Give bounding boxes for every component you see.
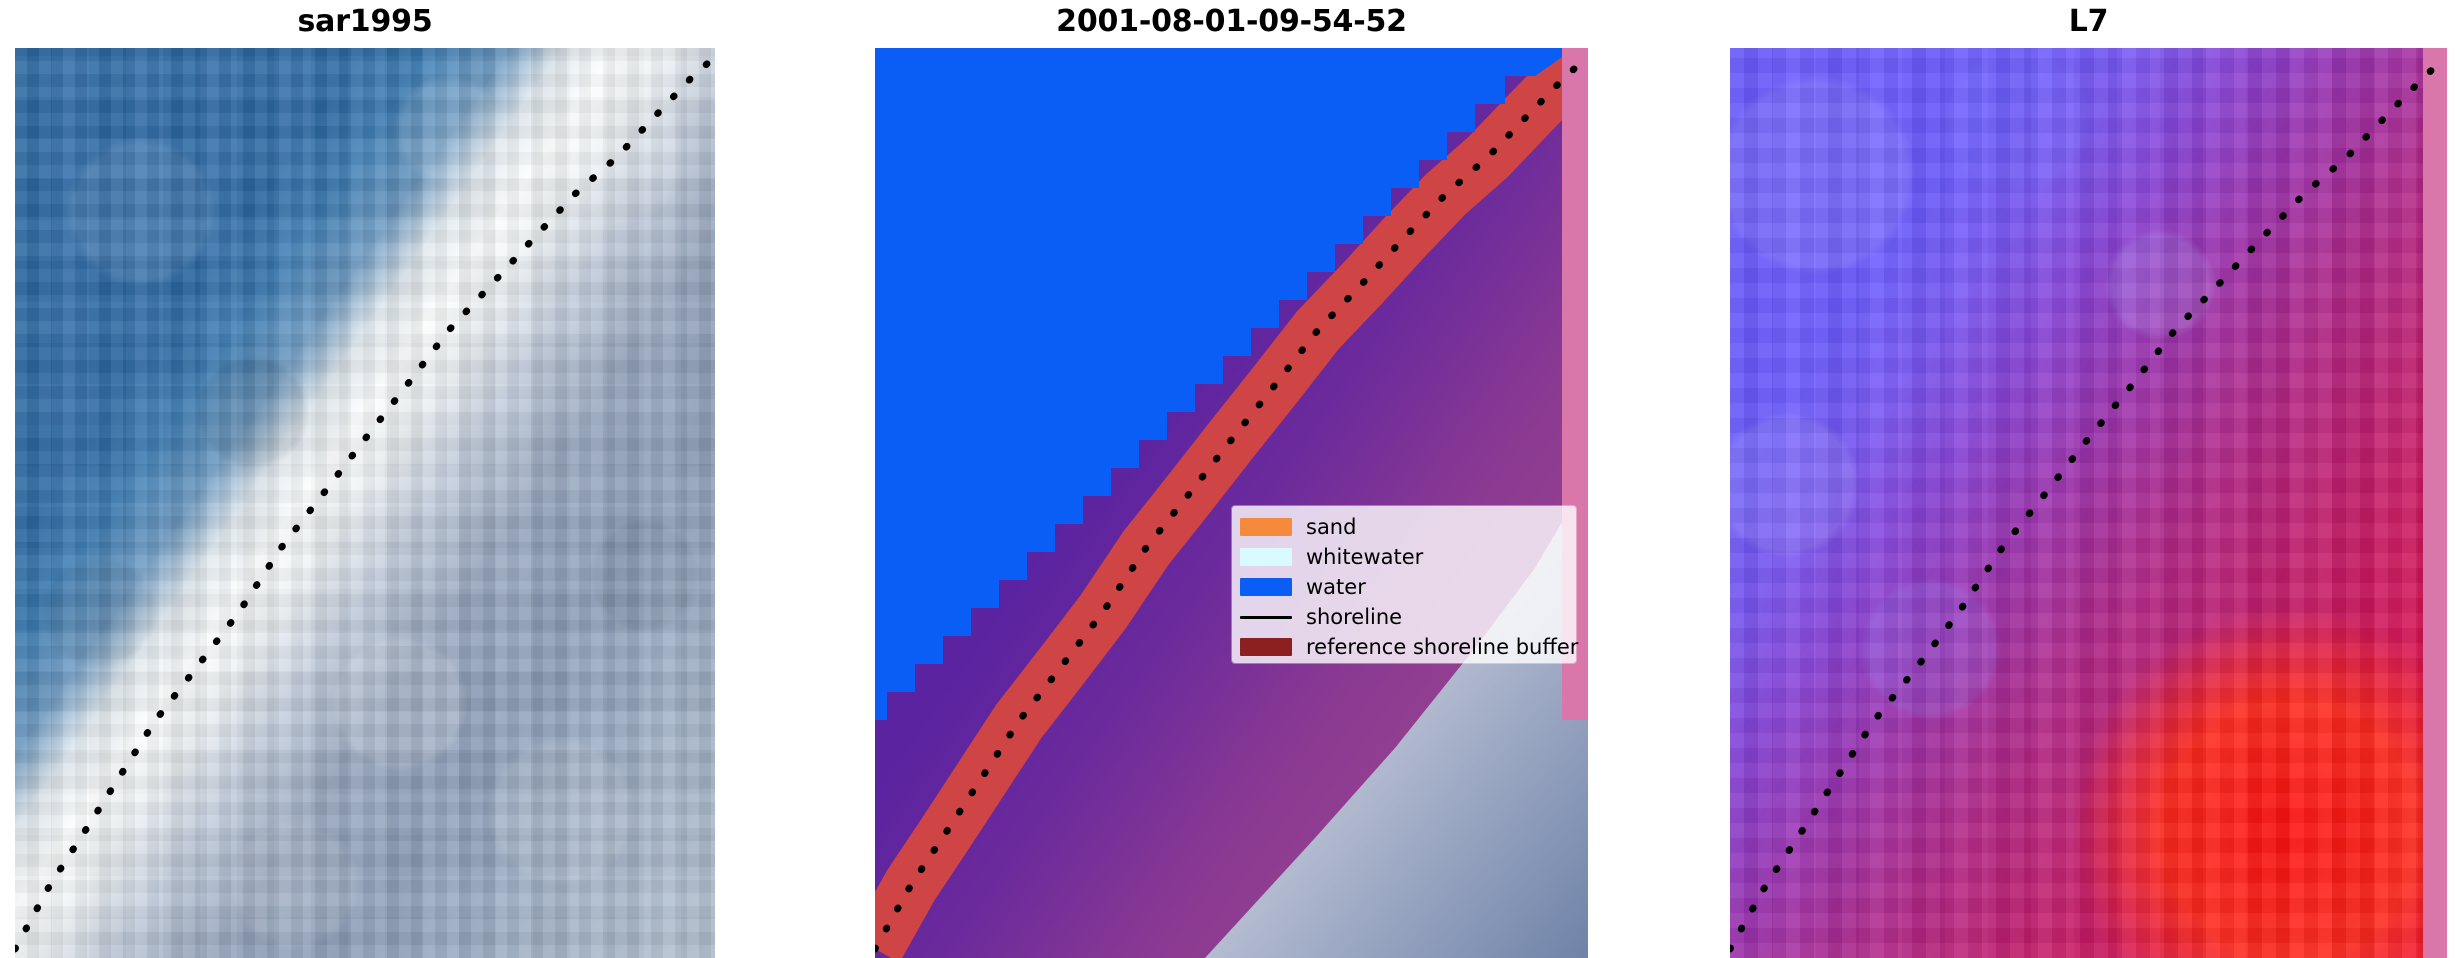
panel-sar1995[interactable] bbox=[15, 48, 715, 958]
panel-title-3: L7 bbox=[1715, 2, 2460, 42]
panel-classified-2001-08-01-09-54-52[interactable] bbox=[875, 48, 1588, 958]
panel-title-2: 2001-08-01-09-54-52 bbox=[860, 2, 1603, 42]
figure-canvas: sar1995 2001-08-01-09-54-52 L7 bbox=[0, 0, 2460, 958]
legend-row-whitewater: whitewater bbox=[1232, 542, 1576, 572]
panel-title-1: sar1995 bbox=[0, 2, 730, 42]
legend-row-water: water bbox=[1232, 572, 1576, 602]
panel-1-image bbox=[15, 48, 715, 958]
legend-swatch-whitewater bbox=[1240, 548, 1292, 566]
l7-grain-layer bbox=[1730, 48, 2447, 958]
legend-box: sand whitewater water shoreline referenc… bbox=[1232, 506, 1576, 663]
panel-l7[interactable] bbox=[1730, 48, 2447, 958]
legend-label-whitewater: whitewater bbox=[1306, 547, 1423, 568]
sar-grain-layer bbox=[15, 48, 715, 958]
legend-label-shoreline: shoreline bbox=[1306, 607, 1402, 628]
legend-swatch-reference-shoreline-buffer bbox=[1240, 638, 1292, 656]
legend-swatch-water bbox=[1240, 578, 1292, 596]
legend-swatch-sand bbox=[1240, 518, 1292, 536]
legend-label-sand: sand bbox=[1306, 517, 1356, 538]
legend-row-reference-shoreline-buffer: reference shoreline buffer bbox=[1232, 632, 1576, 662]
legend-swatch-shoreline bbox=[1240, 616, 1292, 619]
panel-3-right-edge-strip bbox=[2423, 48, 2447, 958]
panel-3-image bbox=[1730, 48, 2447, 958]
water-class-layer bbox=[875, 48, 1588, 958]
legend-row-sand: sand bbox=[1232, 512, 1576, 542]
legend-label-water: water bbox=[1306, 577, 1366, 598]
panel-2-image bbox=[875, 48, 1588, 958]
legend-row-shoreline: shoreline bbox=[1232, 602, 1576, 632]
legend-label-reference-shoreline-buffer: reference shoreline buffer bbox=[1306, 637, 1578, 658]
